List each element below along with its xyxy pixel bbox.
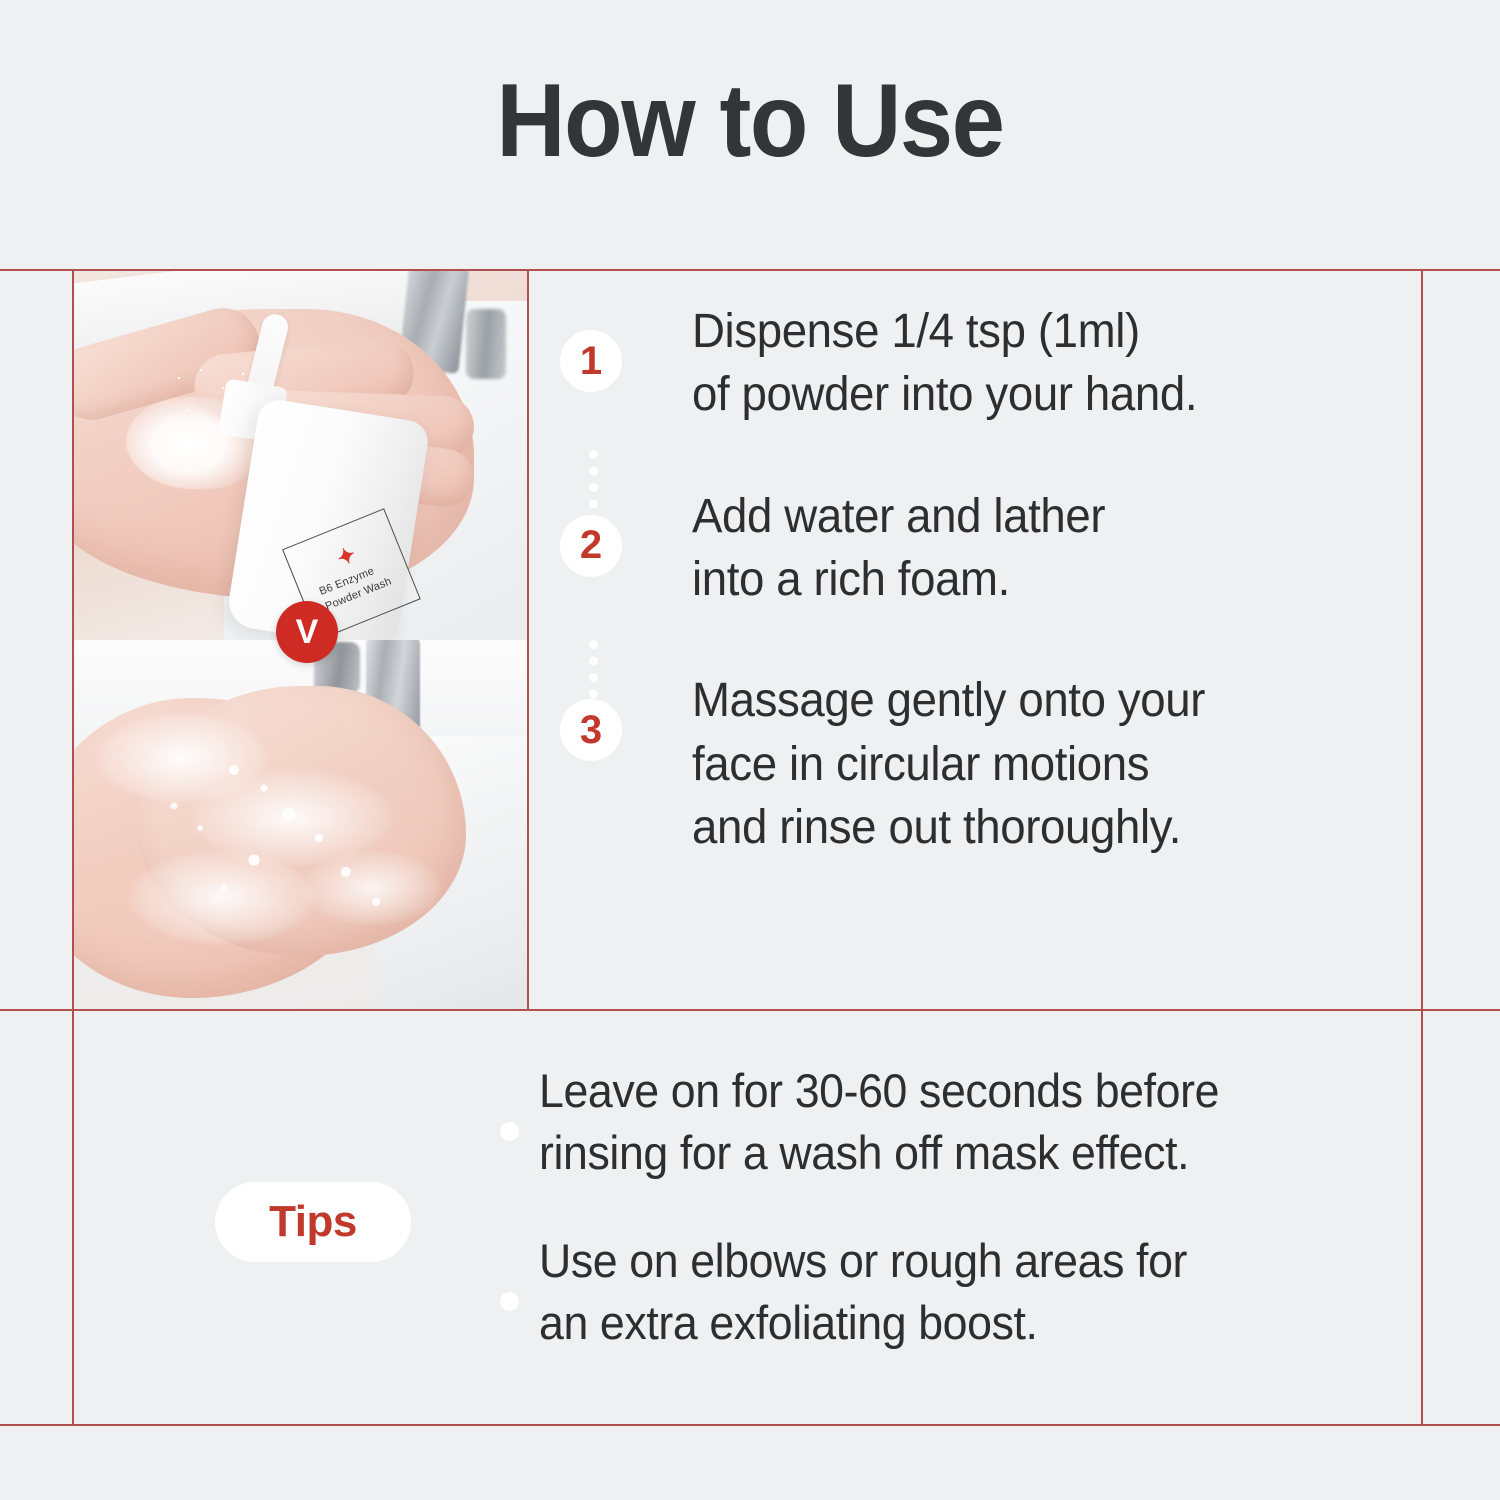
photo-column: ✦ B6 Enzyme Powder Wash V [74,271,527,1009]
photo-dispense-powder: ✦ B6 Enzyme Powder Wash [74,271,527,640]
step-text: Add water and lather into a rich foam. [692,485,1105,612]
divider-middle-horizontal [0,1009,1500,1011]
tip-item: Leave on for 30-60 seconds before rinsin… [500,1060,1420,1184]
divider-bottom-horizontal [0,1424,1500,1426]
tip-bullet-icon [500,1122,519,1141]
tip-item: Use on elbows or rough areas for an extr… [500,1230,1420,1354]
step-number-badge: 3 [560,699,622,761]
tip-text: Use on elbows or rough areas for an extr… [539,1230,1187,1354]
foam-bubbles-shape [114,710,454,960]
tip-text: Leave on for 30-60 seconds before rinsin… [539,1060,1219,1184]
tip-bullet-icon [500,1292,519,1311]
product-bottle: ✦ B6 Enzyme Powder Wash [225,397,431,640]
step-number-badge: 1 [560,330,622,392]
steps-list: 1 Dispense 1/4 tsp (1ml) of powder into … [560,300,1420,860]
photo-lather-foam [74,640,527,1009]
step-item: 3 Massage gently onto your face in circu… [560,669,1420,859]
step-item: 2 Add water and lather into a rich foam. [560,485,1420,612]
how-to-use-page: How to Use [0,0,1500,1500]
divider-center-vertical [527,269,529,1010]
step-text: Massage gently onto your face in circula… [692,669,1205,859]
divider-right-vertical [1421,269,1423,1426]
step-item: 1 Dispense 1/4 tsp (1ml) of powder into … [560,300,1420,427]
page-title: How to Use [60,62,1440,182]
photo-dispense-powder-scene: ✦ B6 Enzyme Powder Wash [74,271,527,640]
tips-label-pill: Tips [215,1182,411,1262]
tips-list: Leave on for 30-60 seconds before rinsin… [500,1060,1420,1354]
vegan-badge: V [276,601,338,663]
step-text: Dispense 1/4 tsp (1ml) of powder into yo… [692,300,1197,427]
step-number-badge: 2 [560,515,622,577]
red-cross-logo-icon: ✦ [334,544,360,570]
faucet-spout-shape [466,309,506,379]
photo-lather-foam-scene [74,640,527,1009]
